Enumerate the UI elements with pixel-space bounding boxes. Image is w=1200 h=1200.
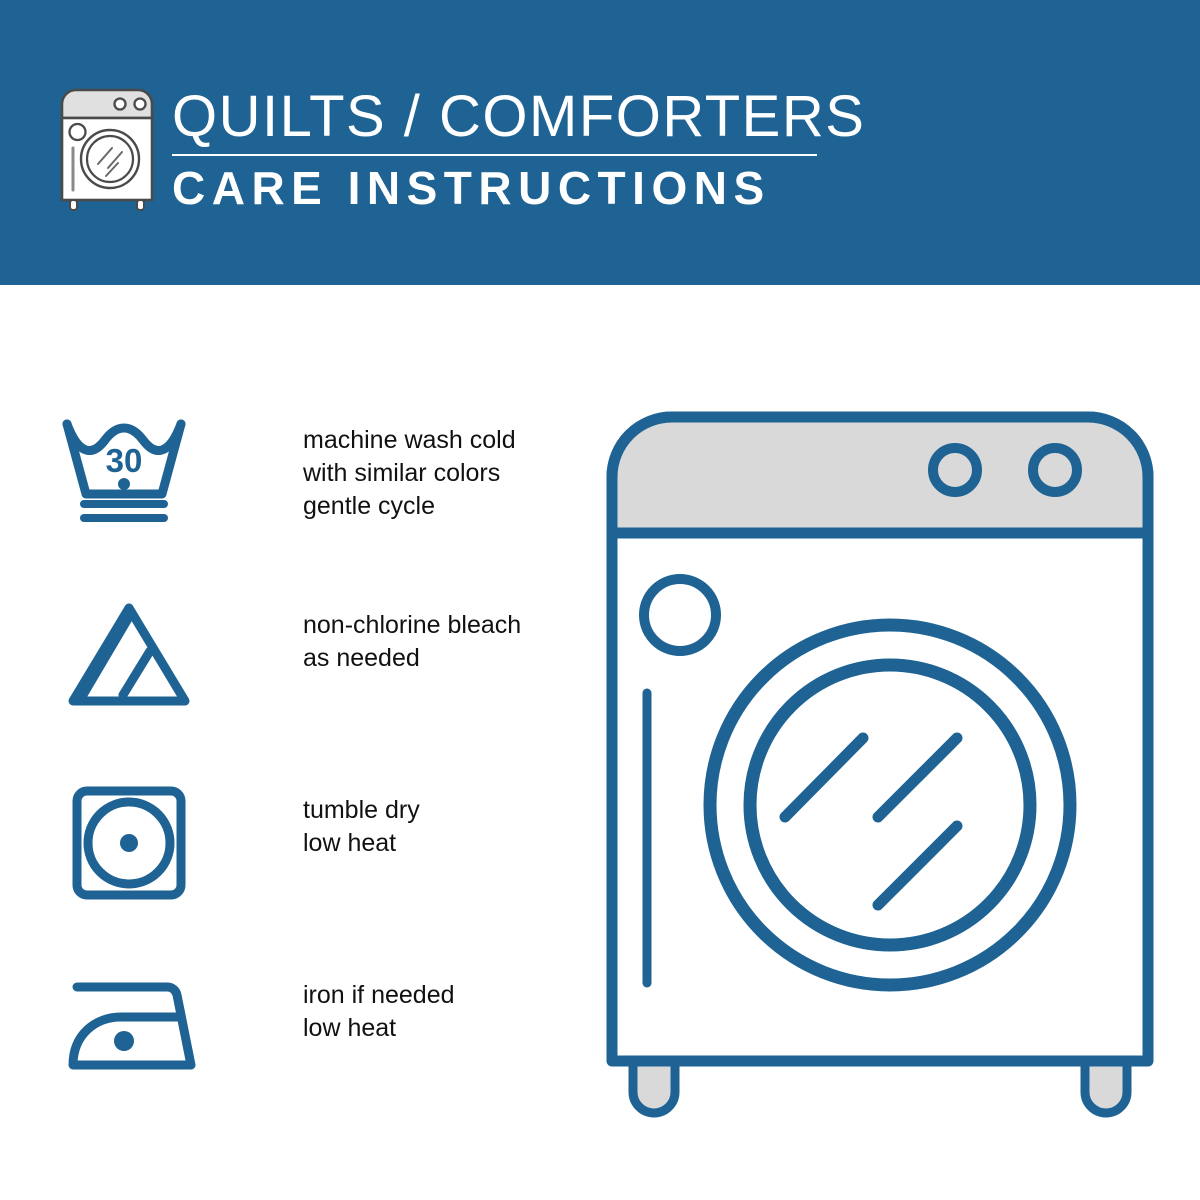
care-item-label-machine-wash: machine wash cold with similar colors ge… [303, 424, 516, 523]
care-line: as needed [303, 642, 521, 675]
care-line: machine wash cold [303, 424, 516, 457]
washing-machine-logo-icon [52, 82, 162, 212]
svg-text:30: 30 [106, 442, 143, 479]
header-text-block: QUILTS / COMFORTERS CARE INSTRUCTIONS [172, 86, 822, 214]
tumble-dry-low-heat-icon [55, 780, 205, 900]
page-title: QUILTS / COMFORTERS [172, 86, 822, 148]
header-banner: QUILTS / COMFORTERS CARE INSTRUCTIONS [0, 0, 1200, 285]
care-item-bleach: non-chlorine bleach as needed [50, 595, 570, 780]
care-instruction-list: 30 machine wash cold with similar colors… [50, 410, 570, 1150]
care-item-iron: iron if needed low heat [50, 965, 570, 1150]
care-item-machine-wash: 30 machine wash cold with similar colors… [50, 410, 570, 595]
care-item-label-iron: iron if needed low heat [303, 979, 455, 1045]
care-line: low heat [303, 827, 420, 860]
title-divider [172, 154, 817, 156]
page-subtitle: CARE INSTRUCTIONS [172, 162, 822, 214]
care-line: low heat [303, 1012, 455, 1045]
care-item-tumble-dry: tumble dry low heat [50, 780, 570, 965]
care-item-label-tumble-dry: tumble dry low heat [303, 794, 420, 860]
care-line: non-chlorine bleach [303, 609, 521, 642]
care-line: iron if needed [303, 979, 455, 1012]
care-item-label-bleach: non-chlorine bleach as needed [303, 609, 521, 675]
iron-low-heat-icon [55, 965, 205, 1085]
care-line: with similar colors [303, 457, 516, 490]
non-chlorine-bleach-triangle-icon [55, 595, 205, 715]
machine-legs [633, 1060, 1127, 1113]
care-line: tumble dry [303, 794, 420, 827]
care-line: gentle cycle [303, 490, 516, 523]
washing-machine-illustration [600, 405, 1160, 1125]
machine-wash-30-gentle-icon: 30 [55, 410, 205, 530]
